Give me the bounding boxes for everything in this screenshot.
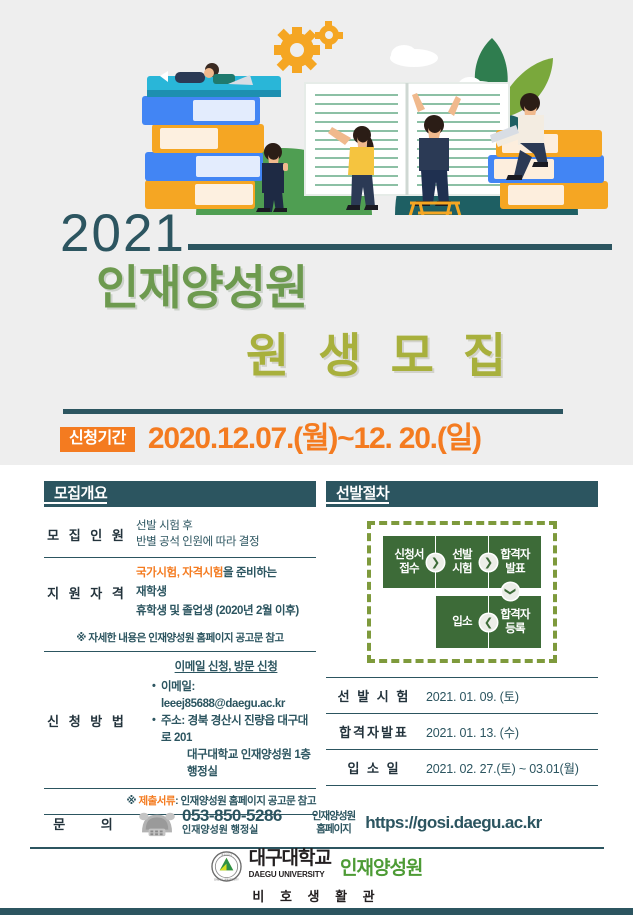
schedule-value-announcement: 2021. 01. 13. (수)	[422, 714, 598, 750]
row-value-headcount: 선발 시험 후 반별 공석 인원에 따라 결정	[130, 511, 316, 558]
schedule-label-exam: 선 발 시 험	[326, 678, 422, 714]
students-books-reading-illustration	[0, 0, 633, 215]
footer-dormitory: 비 호 생 활 관	[252, 886, 380, 905]
eligibility-line-1: 국가시험, 자격시험을 준비하는	[136, 565, 316, 581]
eligibility-highlight: 국가시험, 자격시험	[136, 567, 223, 579]
apply-address-line2: 대구대학교 인재양성원 1층 행정실	[161, 747, 316, 781]
contact-web-label: 인재양성원 홈페이지	[312, 810, 355, 836]
section-header-overview-label: 모집개요	[44, 485, 107, 504]
contact-web-label-line1: 인재양성원	[312, 810, 355, 823]
apply-email-item: 이메일: leeej85688@daegu.ac.kr	[152, 679, 316, 713]
hero-banner: 2021 인재양성원 원 생 모 집 신청기간 2020.12.07.(월)~1…	[0, 0, 633, 465]
flowchart-row-2: 입소 ❮ 합격자 등록	[383, 596, 541, 648]
footer-university: 대구대학교 DAEGU UNIVERSITY	[249, 851, 331, 882]
contact-phone-block: 053-850-5286 인재양성원 행정실	[182, 808, 282, 838]
contact-band: 문 의 053-850-5286 인재양성원 행정실 인재양성원 홈페이지	[44, 801, 596, 845]
schedule-table: 선 발 시 험 2021. 01. 09. (토) 합격자발표 2021. 01…	[326, 677, 598, 786]
footer: 대구대학교 DAEGU UNIVERSITY 대구대학교 DAEGU UNIVE…	[0, 851, 633, 905]
apply-heading: 이메일 신청, 방문 신청	[136, 659, 316, 675]
table-row: 모 집 인 원 선발 시험 후 반별 공석 인원에 따라 결정	[44, 511, 316, 558]
contact-phone-office: 인재양성원 행정실	[182, 823, 282, 838]
footer-institute: 인재양성원	[340, 853, 422, 880]
svg-text:대구대학교: 대구대학교	[220, 852, 232, 856]
table-row: 신 청 방 법 이메일 신청, 방문 신청 이메일: leeej85688@da…	[44, 652, 316, 789]
apply-email-value[interactable]: leeej85688@daegu.ac.kr	[161, 698, 285, 710]
row-value-apply-method: 이메일 신청, 방문 신청 이메일: leeej85688@daegu.ac.k…	[130, 652, 316, 789]
apply-bullets: 이메일: leeej85688@daegu.ac.kr 주소: 경북 경산시 진…	[136, 679, 316, 781]
selection-flowchart-wrap: 신청서 접수 ❯ 선발 시험 ❯ 합격자 발표 ❯ 입소 ❮ 합격자 등록	[326, 521, 598, 663]
eligibility-line-2: 재학생	[136, 584, 316, 600]
recruitment-overview-column: 모집개요 모 집 인 원 선발 시험 후 반별 공석 인원에 따라 결정 지 원…	[44, 481, 316, 815]
schedule-label-announcement: 합격자발표	[326, 714, 422, 750]
poster: 2021 인재양성원 원 생 모 집 신청기간 2020.12.07.(월)~1…	[0, 0, 633, 915]
selection-flowchart: 신청서 접수 ❯ 선발 시험 ❯ 합격자 발표 ❯ 입소 ❮ 합격자 등록	[367, 521, 557, 663]
schedule-value-entrance: 2021. 02. 27.(토) ~ 03.01(월)	[422, 750, 598, 786]
contact-phone-number[interactable]: 053-850-5286	[182, 808, 282, 823]
table-row: 입 소 일 2021. 02. 27.(토) ~ 03.01(월)	[326, 750, 598, 786]
contact-website-url[interactable]: https://gosi.daegu.ac.kr	[365, 813, 541, 833]
arrow-right-icon: ❯	[427, 554, 444, 571]
table-row: ※ 자세한 내용은 인재양성원 홈페이지 공고문 참고	[44, 626, 316, 652]
poster-title-line1: 인재양성원	[96, 262, 307, 314]
table-row: 지 원 자 격 국가시험, 자격시험을 준비하는 재학생 휴학생 및 졸업생 (…	[44, 558, 316, 627]
application-period-badge: 신청기간	[60, 427, 135, 452]
row-label-apply-method: 신 청 방 법	[44, 652, 130, 789]
table-row: 선 발 시 험 2021. 01. 09. (토)	[326, 678, 598, 714]
section-header-procedure-label: 선발절차	[326, 485, 389, 504]
arrow-down-icon: ❯	[502, 583, 519, 600]
year-label: 2021	[60, 204, 186, 263]
contact-web-label-line2: 홈페이지	[312, 823, 355, 836]
schedule-label-entrance: 입 소 일	[326, 750, 422, 786]
row-label-headcount: 모 집 인 원	[44, 511, 130, 558]
arrow-left-icon: ❮	[480, 614, 497, 631]
row-label-eligibility: 지 원 자 격	[44, 558, 130, 627]
daegu-university-emblem: 대구대학교 DAEGU UNIVERSITY	[211, 851, 242, 882]
schedule-value-exam: 2021. 01. 09. (토)	[422, 678, 598, 714]
arrow-right-icon: ❯	[480, 554, 497, 571]
contact-label: 문 의	[44, 814, 138, 833]
poster-title-line2: 원 생 모 집	[246, 330, 514, 382]
application-period-row: 신청기간 2020.12.07.(월)~12. 20.(일)	[60, 422, 481, 456]
row-value-eligibility: 국가시험, 자격시험을 준비하는 재학생 휴학생 및 졸업생 (2020년 2월…	[130, 558, 316, 627]
overview-table: 모 집 인 원 선발 시험 후 반별 공석 인원에 따라 결정 지 원 자 격 …	[44, 511, 316, 815]
flowchart-row-1: 신청서 접수 ❯ 선발 시험 ❯ 합격자 발표	[383, 536, 541, 588]
section-header-procedure: 선발절차	[326, 481, 598, 507]
title-divider	[63, 409, 563, 414]
eligibility-line-3: 휴학생 및 졸업생 (2020년 2월 이후)	[136, 603, 316, 619]
footer-brand-row: 대구대학교 DAEGU UNIVERSITY 대구대학교 DAEGU UNIVE…	[211, 851, 423, 882]
headcount-line-1: 선발 시험 후	[136, 518, 316, 534]
telephone-icon	[138, 808, 176, 838]
year-divider	[188, 244, 612, 250]
apply-address-item: 주소: 경북 경산시 진량읍 대구대로 201 대구대학교 인재양성원 1층 행…	[152, 713, 316, 781]
svg-text:DAEGU UNIVERSITY: DAEGU UNIVERSITY	[214, 878, 239, 881]
bottom-accent-bar	[0, 908, 633, 915]
footer-university-en: DAEGU UNIVERSITY	[249, 867, 331, 882]
application-period-value: 2020.12.07.(월)~12. 20.(일)	[148, 424, 481, 454]
apply-address-label: 주소:	[161, 715, 185, 727]
eligibility-rest: 을 준비하는	[223, 567, 277, 579]
table-row: 합격자발표 2021. 01. 13. (수)	[326, 714, 598, 750]
apply-email-label: 이메일:	[161, 681, 195, 693]
footer-university-ko: 대구대학교	[249, 848, 331, 869]
headcount-line-2: 반별 공석 인원에 따라 결정	[136, 534, 316, 550]
section-header-overview: 모집개요	[44, 481, 316, 507]
year-row: 2021	[60, 205, 580, 265]
overview-note: ※ 자세한 내용은 인재양성원 홈페이지 공고문 참고	[44, 626, 316, 652]
selection-procedure-column: 선발절차 신청서 접수 ❯ 선발 시험 ❯ 합격자 발표 ❯ 입소 ❮ 합	[326, 481, 598, 786]
content-area: 모집개요 모 집 인 원 선발 시험 후 반별 공석 인원에 따라 결정 지 원…	[0, 465, 633, 915]
